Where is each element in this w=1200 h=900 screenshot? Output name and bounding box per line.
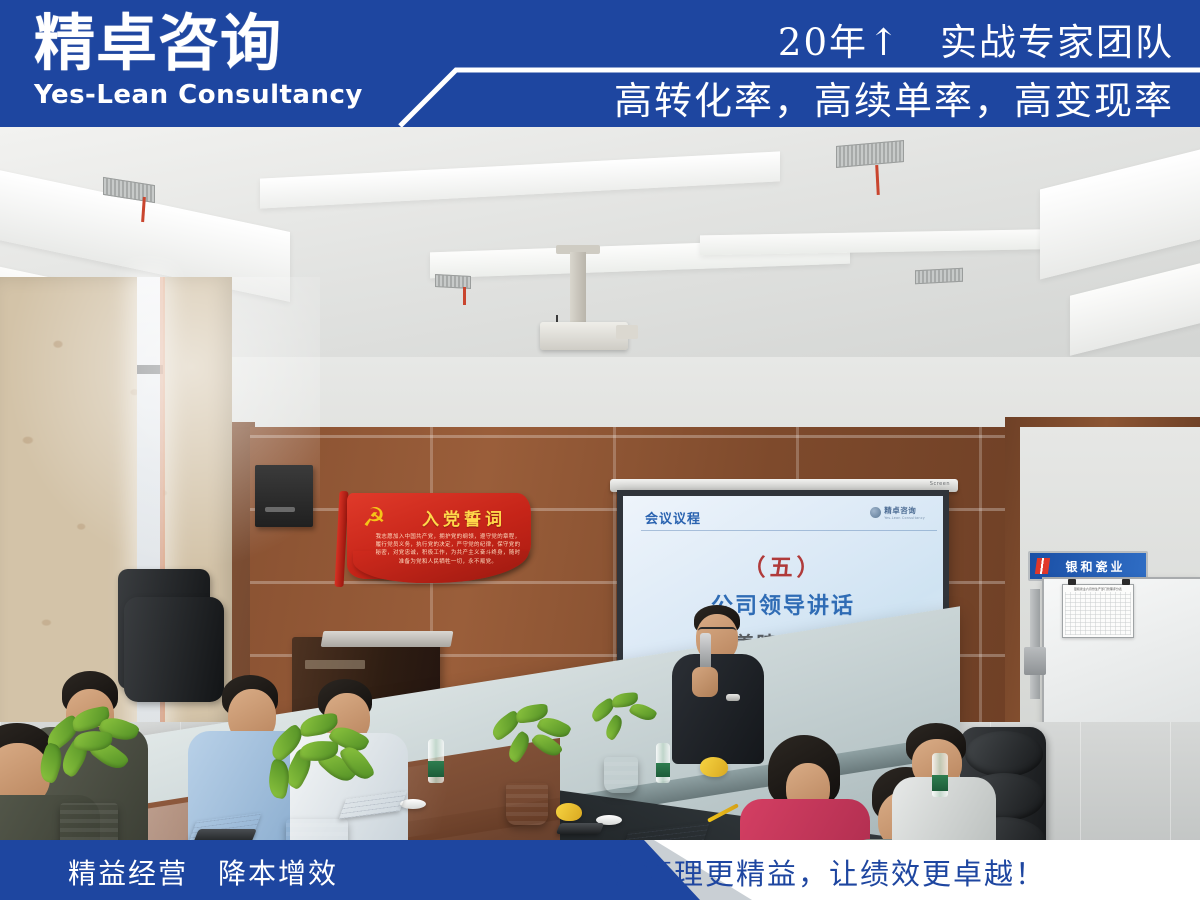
projector-icon	[540, 322, 628, 350]
header-slogan-bottom: 高转化率，高续单率，高变现率	[614, 70, 1174, 125]
poster-image: 精卓咨询 Yes-Lean Consultancy 20年↑ 实战专家团队 高转…	[0, 0, 1200, 900]
bottle-label	[932, 775, 948, 791]
water-bottle	[428, 739, 444, 783]
projector-arm	[570, 252, 586, 324]
header-slogan-top: 20年↑ 实战专家团队	[778, 12, 1174, 66]
meeting-photo: ☭ 入党誓词 我志愿加入中国共产党，拥护党的纲领，遵守党的章程，履行党员义务，执…	[0, 127, 1200, 840]
podium-badge	[305, 660, 365, 669]
smartphone	[556, 823, 604, 834]
brand-logo-cn: 精卓咨询	[34, 8, 364, 80]
bottle-label	[656, 763, 670, 777]
plaque-body-text: 我志愿加入中国共产党，拥护党的纲领，遵守党的章程，履行党员义务，执行党的决定，严…	[373, 533, 523, 566]
office-chair	[124, 597, 224, 702]
brand-logo: 精卓咨询 Yes-Lean Consultancy	[34, 8, 364, 118]
footer-left-slogan: 精益经营 降本增效	[68, 852, 338, 892]
whiteboard-rail	[1030, 589, 1040, 699]
ceiling-light-cove	[700, 229, 1080, 256]
vent-ribbon	[463, 287, 466, 305]
projector-mount	[616, 325, 638, 339]
company-sign-logo-icon	[1035, 558, 1050, 574]
slide-section-number: （五）	[623, 548, 943, 582]
footer-right-slogan: 让管理更精益，让绩效更卓越！	[612, 851, 1046, 893]
smartphone	[193, 829, 257, 840]
posted-chart-title: 银和瓷业六月份生产部门管理评分表	[1063, 587, 1133, 591]
wall-speaker-icon	[255, 465, 313, 527]
chair-cushion	[965, 731, 1043, 777]
water-bottle	[932, 753, 948, 797]
paper-clip-icon	[1068, 579, 1076, 585]
ac-vent-icon	[915, 268, 963, 285]
wristwatch-icon	[726, 694, 740, 701]
company-sign-text: 银和瓷业	[1049, 558, 1146, 575]
footer-banner: 精益经营 降本增效 让管理更精益，让绩效更卓越！	[0, 840, 1200, 900]
slide-logo-en: Yes-Lean Consultancy	[884, 516, 925, 520]
slide-logo-cn: 精卓咨询	[884, 505, 925, 516]
ceiling-light-cove	[1040, 145, 1200, 280]
whiteboard-bracket	[1024, 647, 1046, 675]
bottle-label	[428, 761, 444, 777]
mango-fruit	[556, 803, 582, 821]
party-oath-plaque: ☭ 入党誓词 我志愿加入中国共产党，拥护党的纲领，遵守党的章程，履行党员义务，执…	[333, 489, 531, 597]
brand-logo-en: Yes-Lean Consultancy	[34, 80, 360, 110]
podium-top-surface	[321, 631, 454, 647]
hammer-sickle-icon: ☭	[359, 505, 389, 531]
slide-agenda-line-1: 公司领导讲话	[623, 588, 943, 620]
vent-ribbon	[875, 165, 880, 195]
slide-logo-mark-icon	[870, 507, 881, 518]
slide-header-rule	[641, 530, 937, 531]
water-bottle	[656, 743, 670, 783]
slide-brand-logo: 精卓咨询 Yes-Lean Consultancy	[870, 505, 925, 520]
screen-roller-label: Screen	[930, 481, 950, 487]
slide-header-title: 会议议程	[645, 508, 701, 527]
mango-fruit	[700, 757, 728, 777]
header-banner: 精卓咨询 Yes-Lean Consultancy 20年↑ 实战专家团队 高转…	[0, 0, 1200, 127]
microphone-icon	[700, 633, 711, 671]
tea-cup	[400, 799, 426, 809]
posted-chart-grid	[1065, 592, 1131, 635]
ceiling-light-cove	[1070, 258, 1200, 355]
posted-score-chart: 银和瓷业六月份生产部门管理评分表	[1062, 584, 1134, 638]
ceiling-light-cove	[260, 151, 780, 208]
paper-clip-icon	[1122, 579, 1130, 585]
ac-vent-icon	[836, 140, 904, 168]
plaque-title: 入党誓词	[405, 505, 523, 530]
